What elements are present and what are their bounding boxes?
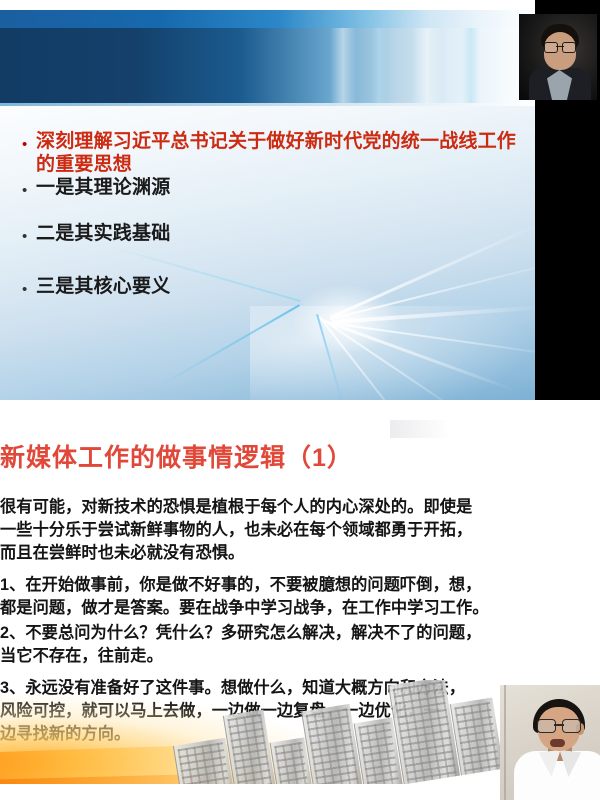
bullet-spacer (22, 245, 522, 275)
bullet-text-0: 深刻理解习近平总书记关于做好新时代党的统一战线工作的重要思想 (36, 130, 522, 176)
bullet-text-3: 三是其核心要义 (36, 275, 170, 298)
slide-corner-accent (390, 420, 450, 438)
bullet-dot-icon: • (22, 222, 36, 244)
paragraph-line: 一些十分乐于尝试新鲜事物的人，也未必在每个领域都勇于开拓， (0, 519, 560, 542)
screen-recording-frame: • 深刻理解习近平总书记关于做好新时代党的统一战线工作的重要思想 • 一是其理论… (0, 0, 600, 800)
top-slide-bullet-list: • 深刻理解习近平总书记关于做好新时代党的统一战线工作的重要思想 • 一是其理论… (22, 130, 522, 298)
glasses-icon (537, 719, 583, 731)
glasses-lens-right (562, 42, 576, 53)
bullet-dot-icon: • (22, 275, 36, 297)
slide-header-bar (0, 28, 535, 106)
bullet-item-1: • 一是其理论渊源 (22, 176, 522, 199)
bullet-item-2: • 二是其实践基础 (22, 222, 522, 245)
glasses-bridge (556, 46, 564, 47)
bullet-text-1: 一是其理论渊源 (36, 176, 170, 199)
paragraph-line: 当它不存在，往前走。 (0, 645, 560, 668)
glasses-bridge (554, 724, 564, 726)
presenter-mouth (550, 739, 565, 747)
bullet-item-3: • 三是其核心要义 (22, 275, 522, 298)
top-slide: • 深刻理解习近平总书记关于做好新时代党的统一战线工作的重要思想 • 一是其理论… (0, 10, 535, 400)
presenter-video-bottom[interactable] (500, 685, 600, 800)
bullet-dot-icon: • (22, 176, 36, 198)
paragraph-line: 而且在尝鲜时也未必就没有恐惧。 (0, 542, 560, 565)
bullet-dot-icon: • (22, 130, 36, 152)
bullet-item-0: • 深刻理解习近平总书记关于做好新时代党的统一战线工作的重要思想 (22, 130, 522, 176)
glasses-lens-left (537, 719, 556, 733)
bottom-slide-title: 新媒体工作的做事情逻辑（1） (0, 438, 560, 474)
top-slide-body: • 深刻理解习近平总书记关于做好新时代党的统一战线工作的重要思想 • 一是其理论… (0, 106, 535, 400)
glasses-icon (544, 42, 576, 51)
glasses-lens-left (544, 42, 558, 53)
paragraph-line: 1、在开始做事前，你是做不好事的，不要被臆想的问题吓倒，想， (0, 574, 560, 597)
bullet-text-2: 二是其实践基础 (36, 222, 170, 245)
bullet-spacer (22, 200, 522, 222)
slide-top-banner (0, 10, 535, 28)
paragraph-line: 很有可能，对新技术的恐惧是植根于每个人的内心深处的。即使是 (0, 496, 560, 519)
paragraph-line: 都是问题，做才是答案。要在战争中学习战争，在工作中学习工作。 (0, 597, 560, 620)
presenter-video-top[interactable] (519, 14, 597, 100)
paragraph-line: 2、不要总问为什么？凭什么？多研究怎么解决，解决不了的问题， (0, 622, 560, 645)
top-margin (0, 0, 600, 10)
glasses-lens-right (562, 719, 581, 733)
